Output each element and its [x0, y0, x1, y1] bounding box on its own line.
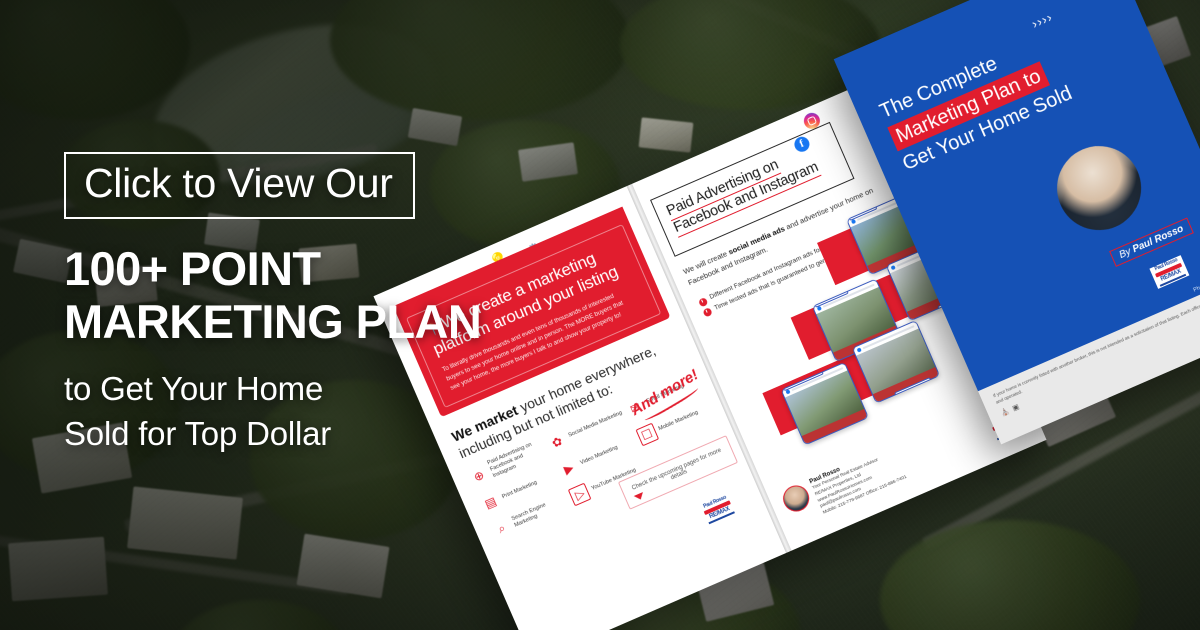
search-engine-icon: ⌕ — [490, 517, 514, 541]
cta-label: Click to View Our — [84, 163, 393, 204]
avatar — [891, 265, 896, 270]
page-title-line-2: MARKETING PLAN — [64, 296, 534, 349]
mls-icon: ▣ — [1011, 402, 1021, 414]
video-icon: ▶ — [557, 457, 581, 481]
equal-housing-icon: ⛪ — [999, 407, 1011, 420]
page-title-line-1: 100+ POINT — [64, 243, 534, 296]
paid-ads-icon: ⊕ — [467, 464, 491, 488]
page-subtitle-line-2: Sold for Top Dollar — [64, 413, 534, 456]
clock-bullet-icon — [702, 307, 713, 318]
author-portrait — [1044, 133, 1155, 244]
agent-avatar — [779, 481, 813, 515]
avatar — [857, 347, 862, 352]
youtube-icon: ▷ — [568, 483, 592, 507]
cta-button[interactable]: Click to View Our — [64, 152, 415, 219]
clock-bullet-icon — [698, 297, 709, 308]
headline-block: Click to View Our 100+ POINT MARKETING P… — [64, 152, 534, 456]
print-icon: ▤ — [479, 491, 503, 515]
social-media-icon: ✿ — [545, 430, 569, 454]
remax-logo: Paul Rosso RE/MAX — [1149, 255, 1189, 289]
remax-logo: Paul Rosso RE/MAX — [698, 493, 738, 527]
page-subtitle-line-1: to Get Your Home — [64, 368, 534, 411]
